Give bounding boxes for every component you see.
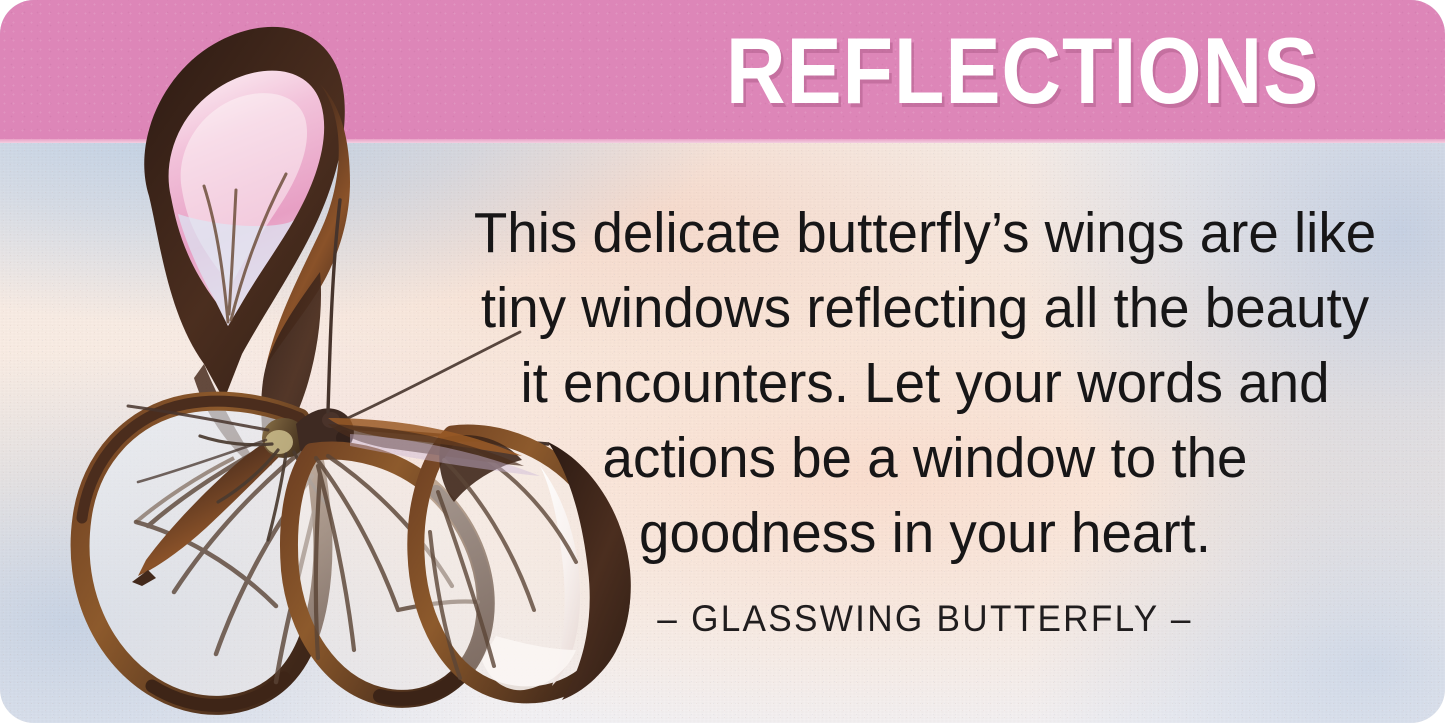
quote-line-2: tiny windows reflecting all the beauty (474, 271, 1376, 346)
quote-line-3: it encounters. Let your words and (474, 346, 1376, 421)
quote-text: This delicate butterfly’s wings are like… (455, 196, 1395, 571)
quote-line-1: This delicate butterfly’s wings are like (474, 196, 1376, 271)
quote-line-4: actions be a window to the (474, 421, 1376, 496)
quote-line-5: goodness in your heart. (474, 496, 1376, 571)
page-title: REFLECTIONS (651, 17, 1395, 125)
attribution-text: – GLASSWING BUTTERFLY – (479, 596, 1372, 642)
quote-card: REFLECTIONS (0, 0, 1445, 723)
